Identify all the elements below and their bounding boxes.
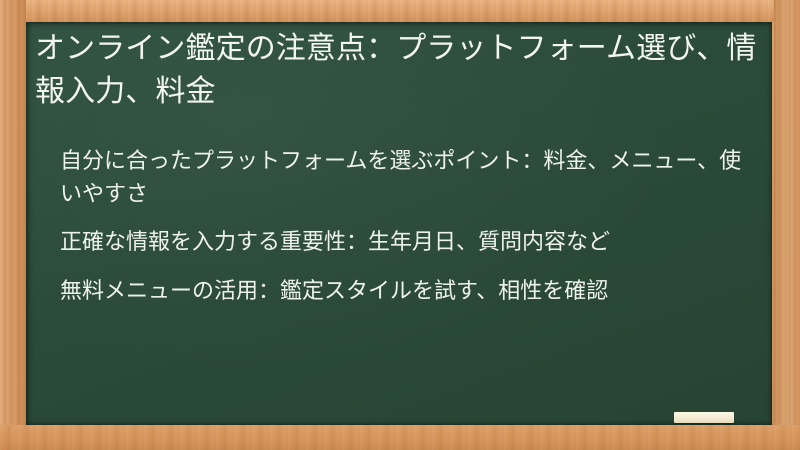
list-item: 自分に合ったプラットフォームを選ぶポイント：料金、メニュー、使いやすさ — [60, 146, 754, 211]
frame-bottom-ledge — [0, 425, 800, 450]
chalkboard-surface: オンライン鑑定の注意点：プラットフォーム選び、情報入力、料金 自分に合ったプラッ… — [26, 22, 772, 425]
chalk-stick-icon — [674, 412, 734, 423]
page-title: オンライン鑑定の注意点：プラットフォーム選び、情報入力、料金 — [35, 28, 760, 113]
bullet-list: 自分に合ったプラットフォームを選ぶポイント：料金、メニュー、使いやすさ 正確な情… — [60, 146, 754, 308]
list-item: 無料メニューの活用：鑑定スタイルを試す、相性を確認 — [60, 276, 754, 309]
chalkboard-slide: オンライン鑑定の注意点：プラットフォーム選び、情報入力、料金 自分に合ったプラッ… — [0, 0, 800, 450]
frame-right-rail — [774, 0, 800, 450]
frame-top-rail — [0, 0, 800, 22]
frame-left-rail — [0, 0, 26, 450]
list-item: 正確な情報を入力する重要性：生年月日、質問内容など — [60, 227, 754, 260]
